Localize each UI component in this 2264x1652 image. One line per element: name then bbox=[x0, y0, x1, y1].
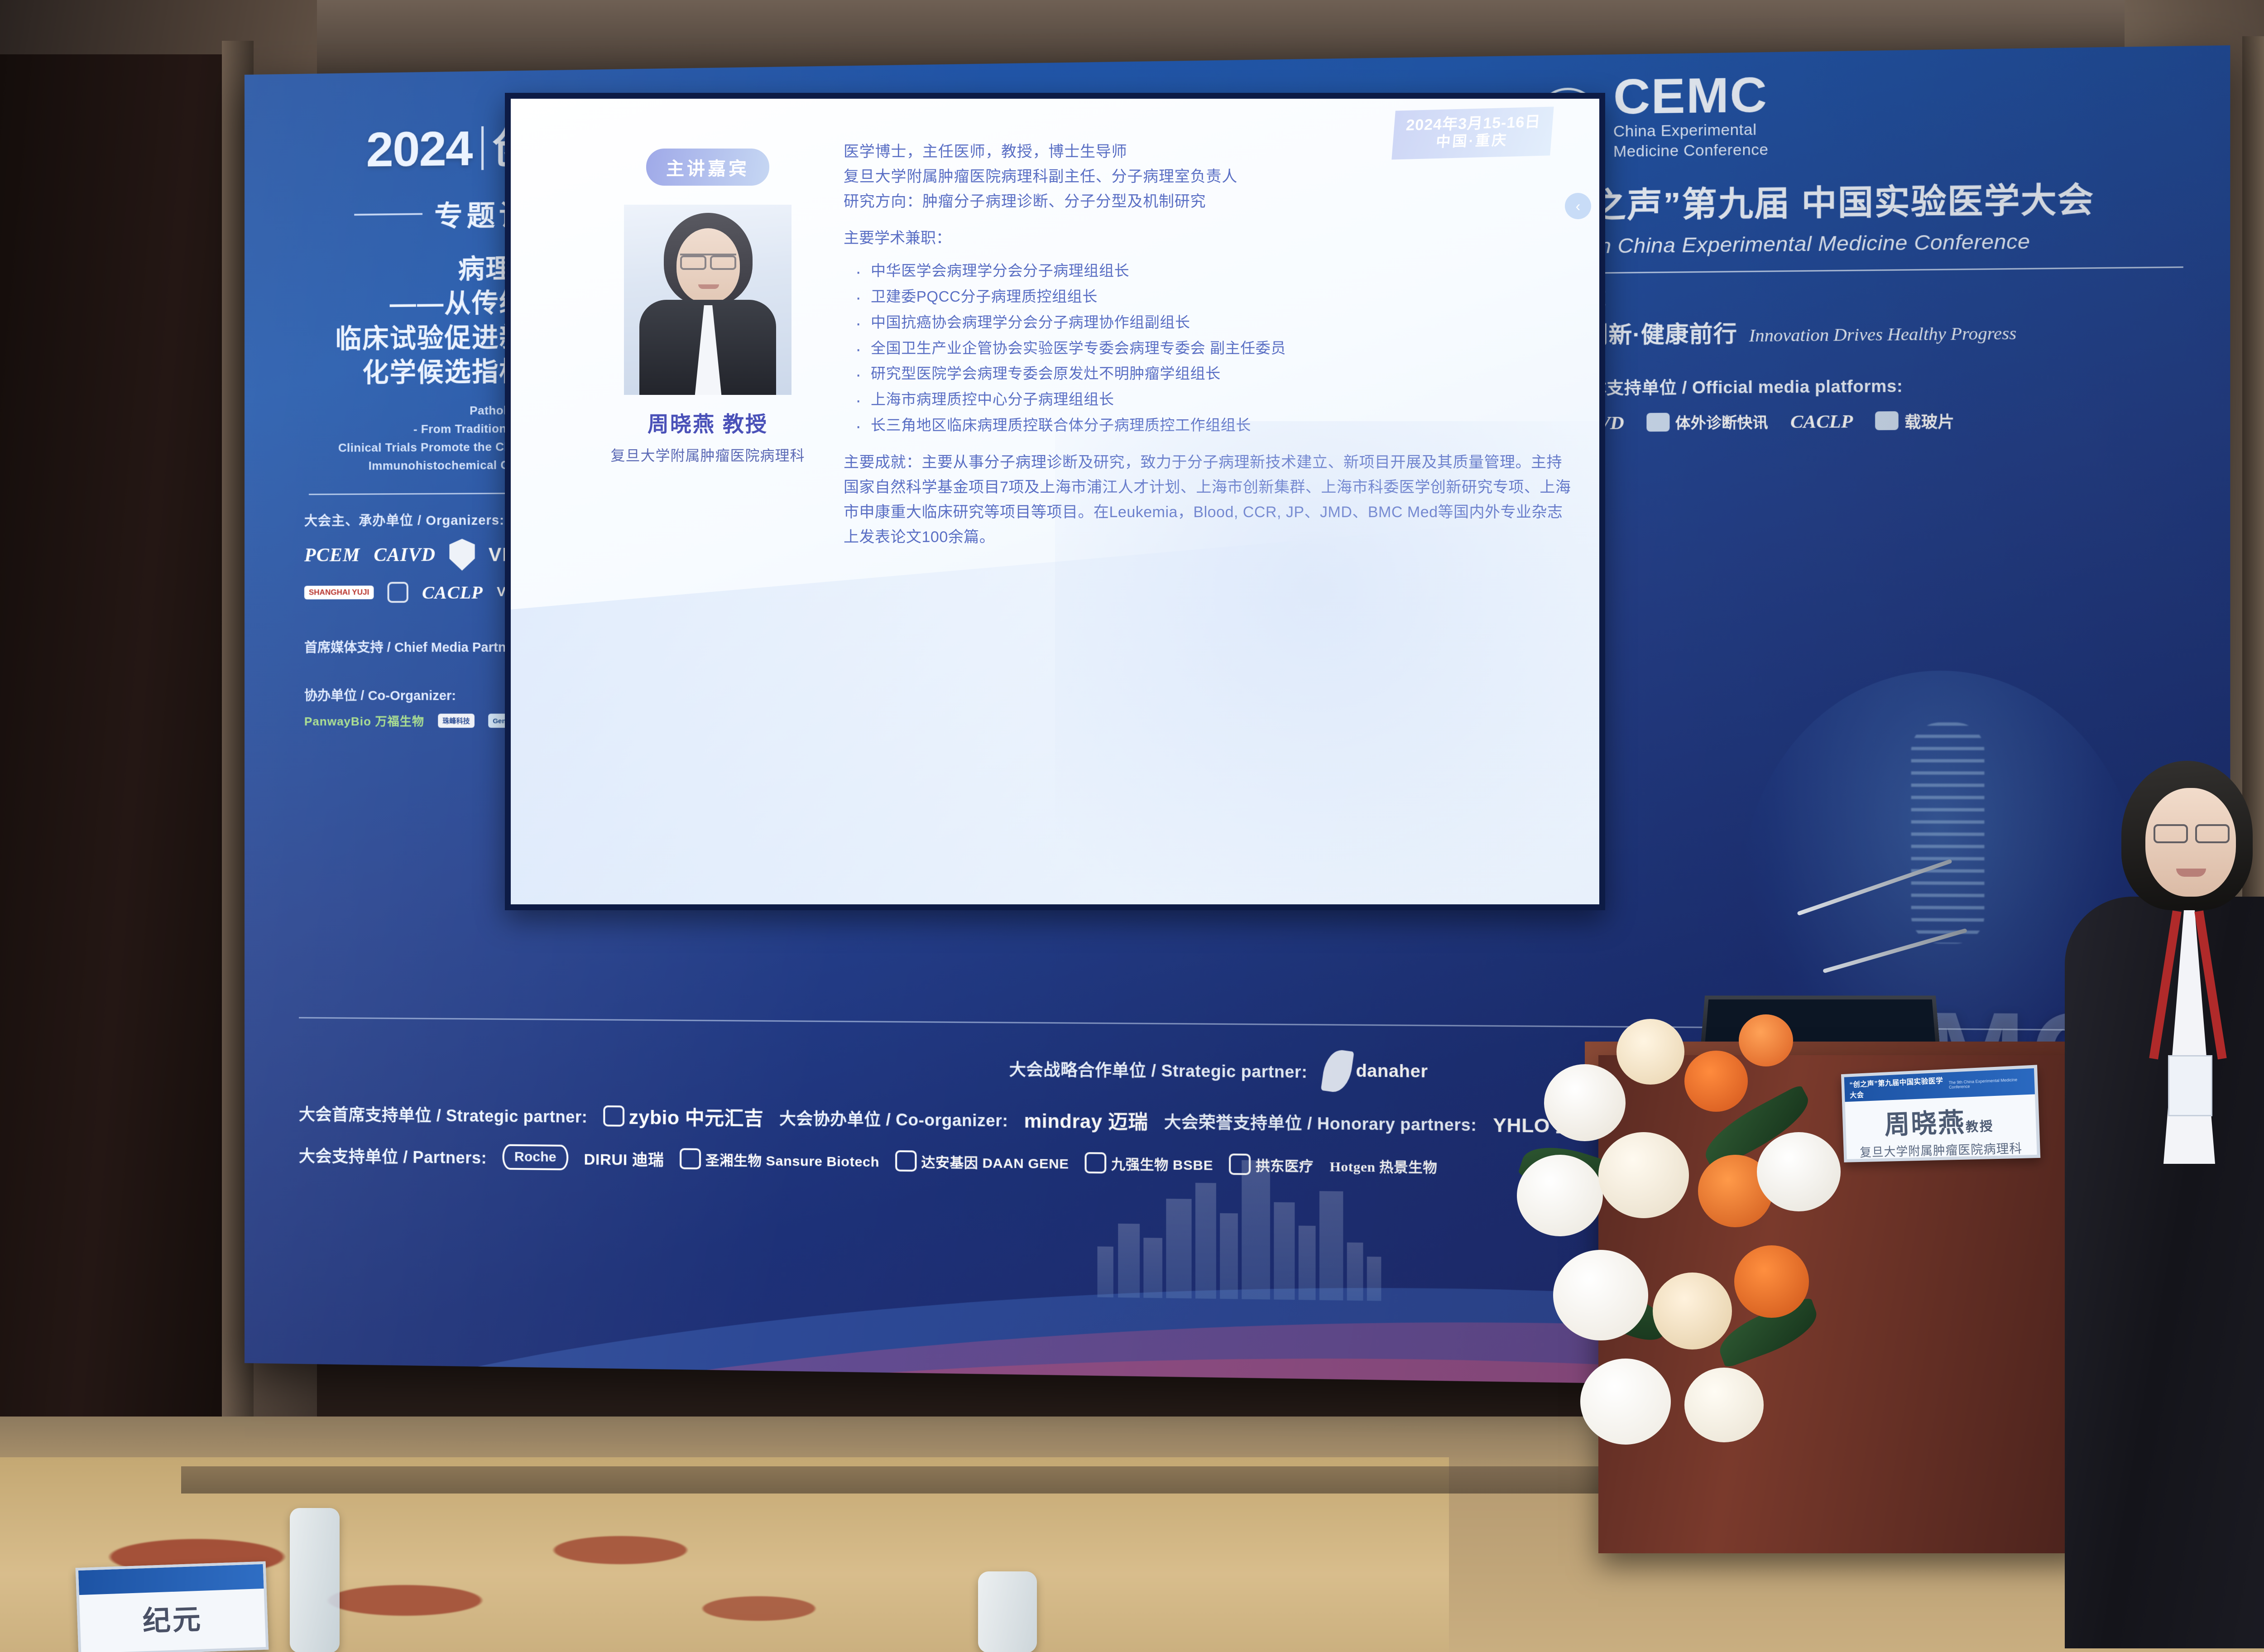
portrait-glasses-icon bbox=[680, 254, 736, 265]
projection-screen: 2024年3月15-16日 中国·重庆 ‹ 主讲嘉宾 周晓燕 教授 复旦大学附属… bbox=[505, 93, 1605, 910]
danaher-name: danaher bbox=[1356, 1061, 1428, 1081]
theme-row: 大会主题 bbox=[1536, 280, 2183, 310]
speaker-glasses-icon bbox=[2154, 824, 2230, 840]
partners-label: 大会支持单位 / Partners: bbox=[299, 1143, 487, 1168]
logo-mindray: mindray 迈瑞 bbox=[1024, 1105, 1148, 1135]
sansure-name: 圣湘生物 Sansure Biotech bbox=[705, 1149, 879, 1171]
speaker-bio: 医学博士，主任医师，教授，博士生导师 复旦大学附属肿瘤医院病理科副主任、分子病理… bbox=[844, 139, 1572, 550]
strategic-center-label: 大会战略合作单位 / Strategic partner: bbox=[1009, 1057, 1307, 1083]
speaker-badge bbox=[2168, 1055, 2212, 1116]
portrait-mouth bbox=[698, 284, 719, 289]
water-bottle-left bbox=[290, 1508, 340, 1652]
speaker-portrait bbox=[624, 205, 791, 395]
logo-zhufeng: 珠峰科技 bbox=[438, 714, 475, 728]
bio-bullet: 研究型医院学会病理专委会原发灶不明肿瘤学组组长 bbox=[852, 361, 1572, 387]
chief-media-label: 首席媒体支持 / Chief Media Partner: bbox=[304, 637, 523, 656]
nameplate-name: 周晓燕教授 bbox=[1845, 1098, 2037, 1143]
bio-section-title: 主要学术兼职： bbox=[844, 226, 1572, 251]
bio-bullet: 中国抗癌协会病理学分会分子病理协作组副组长 bbox=[852, 310, 1572, 336]
bio-bullet: 中华医学会病理学分会分子病理组组长 bbox=[852, 258, 1572, 284]
strategic-left-label: 大会首席支持单位 / Strategic partner: bbox=[299, 1101, 587, 1128]
cemc-header: 创 CEMC China Experimental Medicine Confe… bbox=[1536, 65, 2183, 163]
guest-badge: 主讲嘉宾 bbox=[646, 149, 769, 186]
bio-achievements: 主要成就：主要从事分子病理诊断及研究，致力于分子病理新技术建立、新项目开展及其质… bbox=[844, 450, 1572, 550]
cemc-acronym: CEMC bbox=[1613, 71, 1769, 122]
logo-sansure: 圣湘生物 Sansure Biotech bbox=[680, 1148, 879, 1171]
zybio-name: zybio 中元汇吉 bbox=[629, 1102, 764, 1131]
logo-divider bbox=[481, 126, 484, 170]
flower-arrangement bbox=[1503, 960, 1866, 1481]
speaker-person bbox=[2047, 761, 2264, 1648]
conference-scene: CEMC 2024 创之声 专题论坛 病理学 ——从传统到未来 临床试验促进新的… bbox=[0, 0, 2264, 1652]
cemc-wordmark: CEMC China Experimental Medicine Confere… bbox=[1613, 71, 1769, 162]
daangene-mark-icon bbox=[895, 1150, 916, 1172]
nameplate-name-text: 周晓燕 bbox=[1884, 1108, 1966, 1140]
speaker-smile bbox=[2176, 869, 2206, 877]
cemc-divider bbox=[1536, 266, 2183, 274]
media-logo-zaiboplian-name: 载玻片 bbox=[1904, 409, 1954, 432]
honorary-label: 大会荣誉支持单位 / Honorary partners: bbox=[1164, 1109, 1477, 1136]
tiwai-chip-icon bbox=[1646, 413, 1669, 432]
bio-bullet: 长三角地区临床病理质控联合体分子病理质控工作组组长 bbox=[852, 413, 1572, 438]
logo-pcem: PCEM bbox=[304, 544, 360, 567]
slide-date-line-1: 2024年3月15-16日 bbox=[1405, 113, 1541, 134]
slide-guest-org: 复旦大学附属肿瘤医院病理科 bbox=[601, 444, 814, 465]
cemc-sub-line-2: Medicine Conference bbox=[1613, 139, 1769, 162]
nameplate-header-band: “创之声”第九届中国实验医学大会 The 9th China Experimen… bbox=[1844, 1068, 2035, 1102]
logo-daangene: 达安基因 DAAN GENE bbox=[895, 1150, 1069, 1173]
media-logo-tiwai: 体外诊断快讯 bbox=[1646, 411, 1768, 433]
bio-bullet: 卫建委PQCC分子病理质控组组长 bbox=[852, 284, 1572, 310]
logo-bsbe: 九强生物 BSBE bbox=[1085, 1152, 1213, 1175]
conference-title-en: The 9th China Experimental Medicine Conf… bbox=[1536, 227, 2183, 259]
podium-nameplate: “创之声”第九届中国实验医学大会 The 9th China Experimen… bbox=[1841, 1065, 2040, 1162]
official-media-label: 主办媒体支持单位 / Official media platforms: bbox=[1536, 370, 2183, 400]
logo-panwaybio: PanwayBio 万福生物 bbox=[304, 712, 424, 729]
slide-guest-name: 周晓燕 教授 bbox=[601, 407, 814, 438]
bio-line-2: 复旦大学附属肿瘤医院病理科副主任、分子病理室负责人 bbox=[844, 164, 1572, 189]
slide-speaker-bio: 2024年3月15-16日 中国·重庆 ‹ 主讲嘉宾 周晓燕 教授 复旦大学附属… bbox=[511, 99, 1599, 904]
gongdong-name: 拱东医疗 bbox=[1256, 1154, 1314, 1175]
sansure-mark-icon bbox=[680, 1148, 701, 1169]
bio-line-3: 研究方向：肿瘤分子病理诊断、分子分型及机制研究 bbox=[844, 189, 1572, 214]
left-doorway bbox=[0, 54, 235, 1436]
media-logo-zaiboplian: 载玻片 bbox=[1875, 409, 1954, 432]
logo-zybio: zybio 中元汇吉 bbox=[603, 1102, 764, 1131]
bird-mark-icon bbox=[387, 582, 408, 603]
bio-bullet: 全国卫生产业企管协会实验医学专委会病理专委会 副主任委员 bbox=[852, 336, 1572, 361]
daangene-name: 达安基因 DAAN GENE bbox=[921, 1151, 1069, 1173]
media-logo-caclp-name: CACLP bbox=[1790, 410, 1853, 432]
dna-helix-icon bbox=[1911, 722, 1985, 944]
logo-caclp: CACLP bbox=[422, 581, 483, 603]
forum-year: 2024 bbox=[366, 124, 472, 174]
water-bottle-center bbox=[978, 1571, 1037, 1652]
official-media-logos: CAIVD 体外诊断快讯 CACLP 载玻片 bbox=[1536, 407, 2183, 434]
bio-bullet-list: 中华医学会病理学分会分子病理组组长 卫建委PQCC分子病理质控组组长 中国抗癌协… bbox=[852, 258, 1572, 438]
logo-caivd: CAIVD bbox=[374, 544, 436, 566]
nameplate-band-en: The 9th China Experimental Medicine Conf… bbox=[1949, 1077, 2029, 1090]
media-logo-caclp: CACLP bbox=[1790, 410, 1853, 432]
slide-chip-icon bbox=[1875, 411, 1899, 430]
bsbe-name: 九强生物 BSBE bbox=[1111, 1153, 1213, 1174]
theme-en: Innovation Drives Healthy Progress bbox=[1749, 323, 2016, 346]
danaher-swoosh-icon bbox=[1321, 1048, 1354, 1094]
foreground-table-nameplate: 纪元 bbox=[76, 1561, 269, 1652]
bsbe-mark-icon bbox=[1085, 1152, 1107, 1173]
logo-danaher: danaher bbox=[1324, 1050, 1428, 1093]
zybio-mark-icon bbox=[603, 1105, 624, 1126]
shield-crest-icon bbox=[449, 539, 475, 571]
coorganizer-bar-label: 大会协办单位 / Co-organizer: bbox=[779, 1105, 1008, 1131]
media-logo-tiwai-name: 体外诊断快讯 bbox=[1675, 411, 1768, 433]
nameplate-title-text: 教授 bbox=[1965, 1119, 1994, 1134]
cemc-sub-line-1: China Experimental bbox=[1613, 120, 1769, 142]
skyline-graphic bbox=[1083, 1145, 1443, 1302]
fg-nameplate-band bbox=[78, 1564, 264, 1595]
bio-bullet: 上海市病理质控中心分子病理组组长 bbox=[852, 387, 1572, 413]
speaker-card: 主讲嘉宾 周晓燕 教授 复旦大学附属肿瘤医院病理科 bbox=[601, 149, 814, 465]
conference-title-cn: “创之声”第九届 中国实验医学大会 bbox=[1536, 171, 2183, 228]
logo-roche: Roche bbox=[503, 1144, 568, 1171]
logo-shanghai-yuji: SHANGHAI YUJI bbox=[304, 586, 374, 600]
logo-hotgen: Hotgen 热景生物 bbox=[1329, 1155, 1437, 1177]
bio-line-1: 医学博士，主任医师，教授，博士生导师 bbox=[844, 139, 1572, 164]
cemc-panel: 创 CEMC China Experimental Medicine Confe… bbox=[1536, 65, 2183, 434]
rule-left bbox=[354, 213, 422, 216]
gongdong-mark-icon bbox=[1229, 1153, 1251, 1175]
logo-dirui: DIRUI 迪瑞 bbox=[584, 1147, 664, 1170]
logo-gongdong: 拱东医疗 bbox=[1229, 1153, 1313, 1176]
fg-nameplate-name: 纪元 bbox=[79, 1594, 265, 1641]
theme-value-row: 科技创新·健康前行 Innovation Drives Healthy Prog… bbox=[1536, 311, 2183, 350]
